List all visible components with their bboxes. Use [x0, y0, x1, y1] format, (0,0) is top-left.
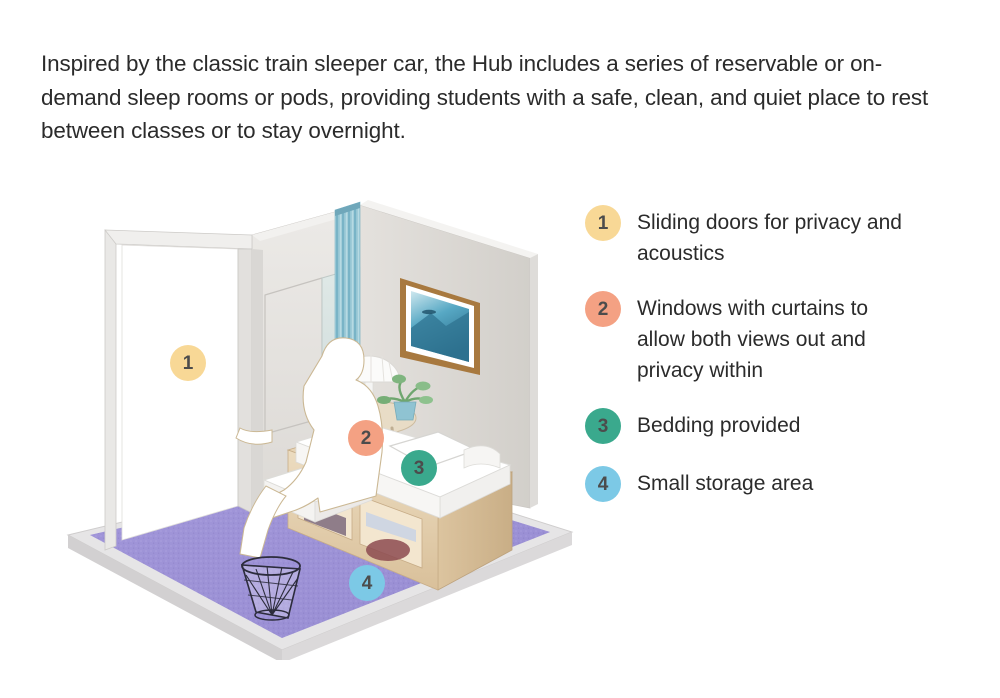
legend-badge-4-number: 4 [598, 475, 609, 494]
legend-badge-1-number: 1 [598, 214, 609, 233]
legend-label-2: Windows with curtains to allow both view… [637, 291, 905, 386]
scene-badge-3-number: 3 [414, 459, 425, 478]
legend-label-3: Bedding provided [637, 408, 800, 441]
sleep-pod-scene-svg [60, 150, 580, 660]
scene-badge-2[interactable]: 2 [348, 420, 384, 456]
sliding-panel-edge [252, 249, 263, 513]
plant-leaf-3 [377, 396, 391, 404]
door-opening [122, 245, 238, 540]
intro-paragraph: Inspired by the classic train sleeper ca… [41, 47, 933, 148]
scene-badge-2-number: 2 [361, 429, 372, 448]
plant-pot [394, 402, 416, 420]
legend-badge-2-number: 2 [598, 300, 609, 319]
legend-badge-2: 2 [585, 291, 621, 327]
scene-badge-1-number: 1 [183, 354, 194, 373]
scene-badge-4-number: 4 [362, 574, 373, 593]
legend-badge-3: 3 [585, 408, 621, 444]
right-wall-edge [530, 254, 538, 508]
door-jamb-left [105, 230, 116, 550]
scene-badge-1[interactable]: 1 [170, 345, 206, 381]
scene-badge-4[interactable]: 4 [349, 565, 385, 601]
legend-label-4: Small storage area [637, 466, 813, 499]
sleep-pod-illustration: 1 2 3 4 [60, 150, 580, 660]
legend-badge-3-number: 3 [598, 417, 609, 436]
legend-item-4[interactable]: 4 Small storage area [585, 466, 945, 502]
legend-badge-4: 4 [585, 466, 621, 502]
scene-badge-3[interactable]: 3 [401, 450, 437, 486]
sliding-door [105, 230, 263, 550]
legend-badge-1: 1 [585, 205, 621, 241]
storage-bag [366, 539, 410, 561]
infographic-page: Inspired by the classic train sleeper ca… [0, 0, 1000, 698]
door-jamb-right [238, 249, 252, 513]
plant-leaf-2 [416, 382, 431, 391]
legend-item-2[interactable]: 2 Windows with curtains to allow both vi… [585, 291, 945, 386]
intro-paragraph-block: Inspired by the classic train sleeper ca… [41, 47, 933, 148]
artwork-accent [422, 310, 436, 314]
legend-label-1: Sliding doors for privacy and acoustics [637, 205, 905, 269]
legend-list: 1 Sliding doors for privacy and acoustic… [585, 205, 945, 524]
legend-item-1[interactable]: 1 Sliding doors for privacy and acoustic… [585, 205, 945, 269]
legend-item-3[interactable]: 3 Bedding provided [585, 408, 945, 444]
plant-leaf-1 [392, 375, 406, 384]
plant-leaf-4 [419, 396, 433, 404]
